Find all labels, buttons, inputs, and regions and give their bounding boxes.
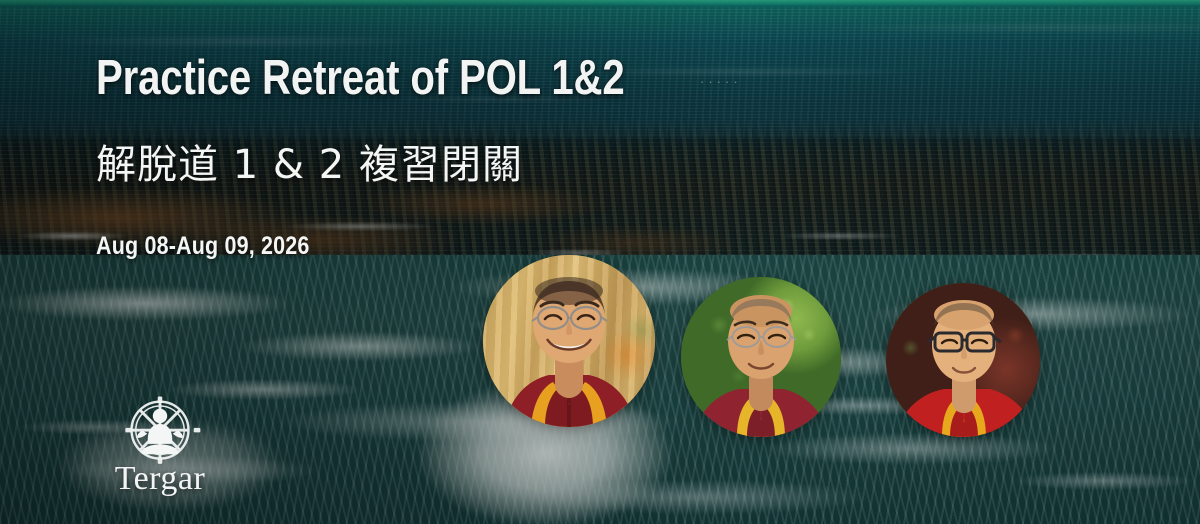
tergar-logo: Tergar <box>96 396 224 504</box>
title-trailing-dots: ····· <box>700 74 742 89</box>
portrait-2-figure <box>681 277 841 437</box>
tergar-wordmark: Tergar <box>96 460 224 498</box>
banner-title: Practice Retreat of POL 1&2 <box>96 54 625 103</box>
event-banner: Practice Retreat of POL 1&2 ····· 解脫道 1 … <box>0 0 1200 524</box>
dharma-wheel-icon <box>112 396 208 470</box>
teacher-portrait-1 <box>483 255 655 427</box>
banner-date-range: Aug 08-Aug 09, 2026 <box>96 232 310 261</box>
teacher-portrait-2 <box>681 277 841 437</box>
banner-subtitle-chinese: 解脫道 1 & 2 複習閉關 <box>96 144 523 187</box>
portrait-3-figure <box>886 283 1040 437</box>
portrait-1-figure <box>483 255 655 427</box>
banner-content: Practice Retreat of POL 1&2 ····· 解脫道 1 … <box>0 0 1200 524</box>
teacher-portrait-3 <box>886 283 1040 437</box>
